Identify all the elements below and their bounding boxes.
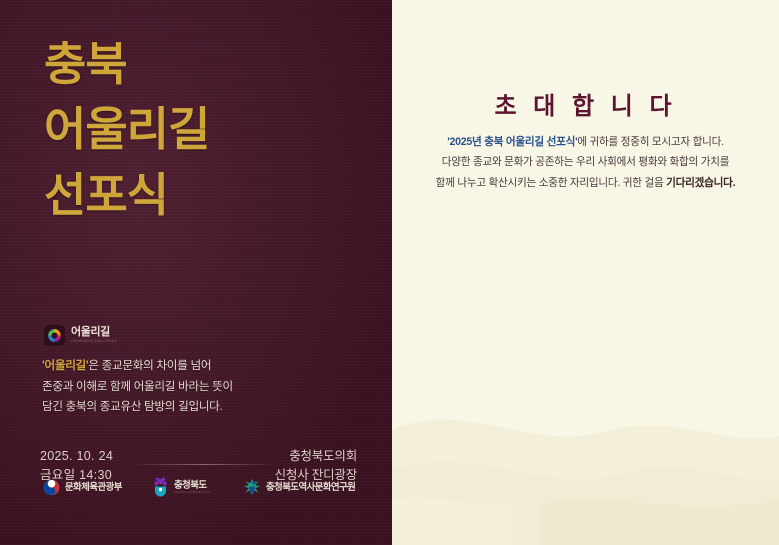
eullirigil-circle-logo-icon [44, 325, 65, 346]
description-highlight: '어울리길' [42, 359, 88, 372]
sponsor-logo-chungbuk-text: 충청북도 CHUNGCHEONGBUK-DO [174, 480, 211, 494]
description-line-1-rest: 은 종교문화의 차이를 넘어 [88, 359, 211, 372]
program-description: '어울리길'은 종교문화의 차이를 넘어 존중과 이해로 함께 어울리길 바라는… [42, 356, 233, 418]
title-line-1: 충북 [44, 32, 209, 97]
invite-body-line-1-rest: 에 귀하를 정중히 모시고자 합니다. [577, 136, 723, 148]
invite-body-line-1: '2025년 충북 어울리길 선포식'에 귀하를 정중히 모시고자 합니다. [422, 132, 749, 152]
brand-wordmark: 어울리길 CHUNGBUK EULLIRIGIL [71, 327, 117, 343]
title-line-3: 선포식 [44, 163, 209, 228]
chungbuk-flower-icon [152, 477, 169, 497]
invite-body-line-3-plain: 함께 나누고 확산시키는 소중한 자리입니다. 귀한 걸음 [436, 177, 666, 189]
decorative-wave-pattern [392, 0, 779, 545]
footer-date-line-1: 2025. 10. 24 [40, 447, 113, 466]
brand-name-ko: 어울리길 [71, 327, 117, 338]
right-panel: 초 대 합 니 다 '2025년 충북 어울리길 선포식'에 귀하를 정중히 모… [392, 0, 779, 545]
footer-place-line-1: 충청북도의회 [275, 447, 357, 466]
description-line-1: '어울리길'은 종교문화의 차이를 넘어 [42, 356, 233, 377]
invite-body-line-2: 다양한 종교와 문화가 공존하는 우리 사회에서 평화와 화합의 가치를 [422, 152, 749, 172]
sponsor-logo-chungbuk: 충청북도 CHUNGCHEONGBUK-DO [152, 477, 211, 497]
event-name-highlight: '2025년 충북 어울리길 선포식' [447, 136, 577, 148]
footer-divider [136, 464, 272, 465]
sponsor-logo-institute: 충청북도역사문화연구원 [243, 478, 355, 497]
invite-title: 초 대 합 니 다 [392, 86, 779, 121]
sponsor-name-ko-1: 문화체육관광부 [65, 482, 122, 491]
description-line-3: 담긴 충북의 종교유산 탐방의 길입니다. [42, 397, 233, 418]
invite-body-line-3-bold: 기다리겠습니다. [666, 177, 735, 189]
brand-mark: 어울리길 CHUNGBUK EULLIRIGIL [44, 325, 117, 346]
sponsor-logo-institute-text: 충청북도역사문화연구원 [266, 482, 355, 491]
taegeuk-icon [43, 479, 60, 496]
research-institute-icon [243, 478, 261, 497]
sponsor-name-ko-2: 충청북도 [174, 480, 211, 489]
sponsor-name-ko-3: 충청북도역사문화연구원 [266, 482, 355, 491]
sponsor-name-en-2: CHUNGCHEONGBUK-DO [174, 491, 211, 494]
left-panel: 충북 어울리길 선포식 [0, 0, 392, 545]
sponsor-logo-mcst-text: 문화체육관광부 [65, 482, 122, 491]
description-line-2: 존중과 이해로 함께 어울리길 바라는 뜻이 [42, 377, 233, 398]
title-line-2: 어울리길 [44, 97, 209, 162]
sponsor-logo-mcst: 문화체육관광부 [43, 479, 122, 496]
page-title: 충북 어울리길 선포식 [44, 32, 209, 228]
invite-body-line-3: 함께 나누고 확산시키는 소중한 자리입니다. 귀한 걸음 기다리겠습니다. [422, 173, 749, 193]
invitation-poster: 충북 어울리길 선포식 [0, 0, 779, 545]
brand-name-en: CHUNGBUK EULLIRIGIL [71, 340, 117, 343]
invite-body: '2025년 충북 어울리길 선포식'에 귀하를 정중히 모시고자 합니다. 다… [422, 132, 749, 193]
